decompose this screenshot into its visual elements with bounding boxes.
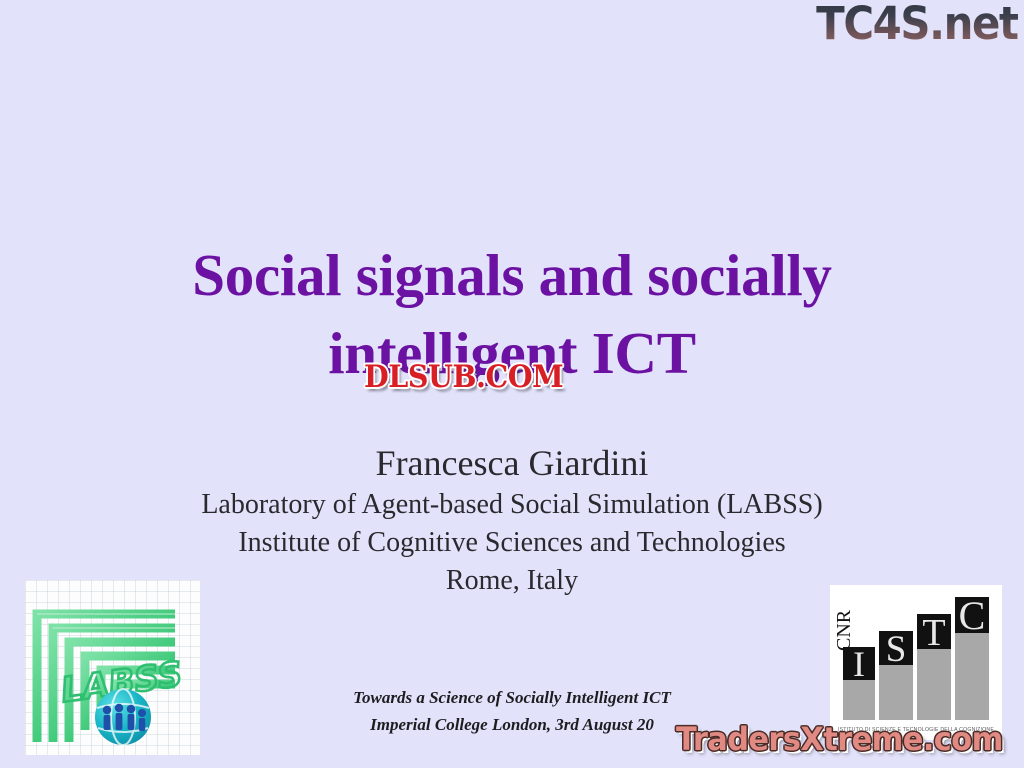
- istc-caption: ISTITUTO DI SCIENZE E TECNOLOGIE DELLA C…: [838, 727, 994, 733]
- title-line-2: intelligent ICT: [52, 324, 972, 383]
- watermark-tc4s: TC4S.net: [817, 0, 1018, 52]
- title-line-1: Social signals and socially: [52, 246, 972, 305]
- istc-logo-graphic: I S T C CNR ISTITUTO DI SC: [830, 585, 1002, 740]
- istc-letter-t: T: [922, 612, 945, 654]
- istc-cnr-logo: I S T C CNR ISTITUTO DI SC: [830, 585, 1002, 740]
- istc-bar-c: C: [955, 593, 989, 720]
- istc-bar-t: T: [917, 612, 951, 720]
- author-affiliation-lab: Laboratory of Agent-based Social Simulat…: [62, 486, 962, 524]
- footer-event-name: Towards a Science of Socially Intelligen…: [112, 684, 912, 711]
- cnr-vertical-label: CNR: [833, 609, 855, 651]
- author-affiliation-institute: Institute of Cognitive Sciences and Tech…: [62, 524, 962, 562]
- labss-globe: [95, 689, 151, 745]
- slide-footer: Towards a Science of Socially Intelligen…: [112, 684, 912, 738]
- istc-letter-s: S: [886, 629, 907, 670]
- istc-letter-c: C: [959, 593, 986, 638]
- footer-venue-date: Imperial College London, 3rd August 20: [112, 711, 912, 738]
- labss-logo: LABSS: [25, 580, 200, 755]
- labss-logo-graphic: LABSS: [25, 580, 200, 755]
- author-block: Francesca Giardini Laboratory of Agent-b…: [62, 440, 962, 600]
- istc-bar-s: S: [879, 629, 913, 720]
- author-name: Francesca Giardini: [62, 440, 962, 486]
- slide-title: Social signals and socially intelligent …: [52, 246, 972, 383]
- istc-bar-i: I: [843, 644, 875, 720]
- presentation-slide: Social signals and socially intelligent …: [0, 0, 1024, 768]
